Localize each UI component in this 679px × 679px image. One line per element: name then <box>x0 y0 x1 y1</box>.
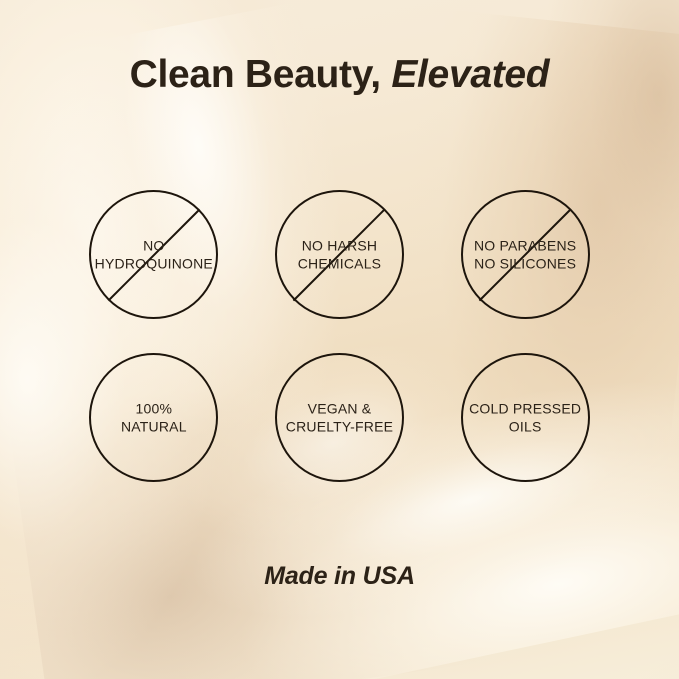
badge-label: 100% NATURAL <box>88 399 220 436</box>
badge-label: VEGAN & CRUELTY-FREE <box>255 399 423 436</box>
badge-vegan-cruelty-free: VEGAN & CRUELTY-FREE <box>275 353 404 482</box>
page-title-regular: Clean Beauty, <box>130 53 392 96</box>
page-title-emphasis: Elevated <box>391 53 549 96</box>
badge-label: COLD PRESSED OILS <box>441 399 609 436</box>
badge-cold-pressed-oils: COLD PRESSED OILS <box>461 353 590 482</box>
badge-label: NO HYDROQUINONE <box>64 236 244 273</box>
badge-100-percent-natural: 100% NATURAL <box>89 353 218 482</box>
footer-country: USA <box>363 562 415 590</box>
badge-label: NO PARABENS NO SILICONES <box>441 236 609 273</box>
page-title: Clean Beauty, Elevated <box>0 55 679 94</box>
footer-prefix: Made in <box>264 562 362 590</box>
claims-badge-grid: NO HYDROQUINONE NO HARSH CHEMICALS NO PA… <box>61 190 618 516</box>
made-in-usa-text: Made in USA <box>0 562 679 591</box>
clean-beauty-poster: Clean Beauty, Elevated NO HYDROQUINONE N… <box>0 0 679 679</box>
badge-no-harsh-chemicals: NO HARSH CHEMICALS <box>275 190 404 319</box>
badge-label: NO HARSH CHEMICALS <box>273 236 405 273</box>
badge-no-parabens-no-silicones: NO PARABENS NO SILICONES <box>461 190 590 319</box>
badge-no-hydroquinone: NO HYDROQUINONE <box>89 190 218 319</box>
